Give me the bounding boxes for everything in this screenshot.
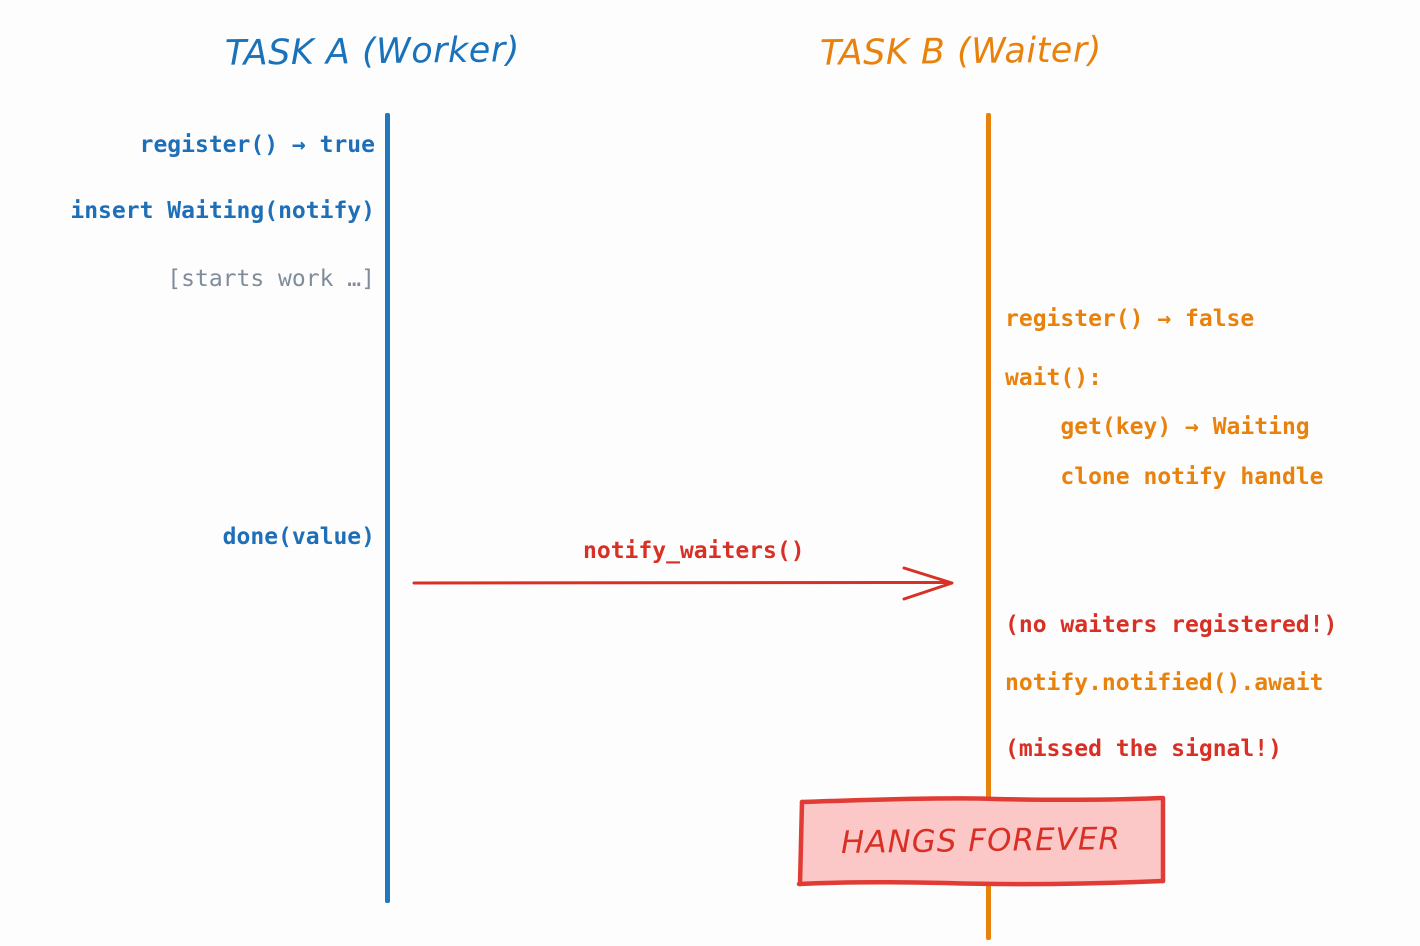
lifeline-task-a	[385, 113, 390, 903]
message-b-get-key: get(key) → Waiting	[1005, 415, 1310, 439]
message-b-wait: wait():	[1005, 366, 1102, 390]
message-b-notified-await: notify.notified().await	[1005, 671, 1324, 695]
message-b-no-waiters: (no waiters registered!)	[1005, 613, 1337, 637]
diagram-canvas: TASK A (Worker) TASK B (Waiter) register…	[0, 0, 1420, 946]
message-a-starts-work: [starts work …]	[167, 267, 375, 291]
message-b-clone-notify: clone notify handle	[1005, 465, 1324, 489]
message-a-register: register() → true	[140, 133, 375, 157]
message-a-done: done(value)	[223, 525, 375, 549]
hangs-forever-callout: HANGS FOREVER	[795, 793, 1167, 888]
lane-title-task-b: TASK B (Waiter)	[820, 30, 1102, 73]
hangs-forever-text: HANGS FOREVER	[794, 790, 1167, 890]
message-a-insert-waiting: insert Waiting(notify)	[70, 199, 375, 223]
notify-waiters-arrow-label: notify_waiters()	[583, 538, 805, 564]
message-b-register: register() → false	[1005, 307, 1254, 331]
message-b-missed-signal: (missed the signal!)	[1005, 737, 1282, 761]
lane-title-task-a: TASK A (Worker)	[225, 30, 520, 74]
